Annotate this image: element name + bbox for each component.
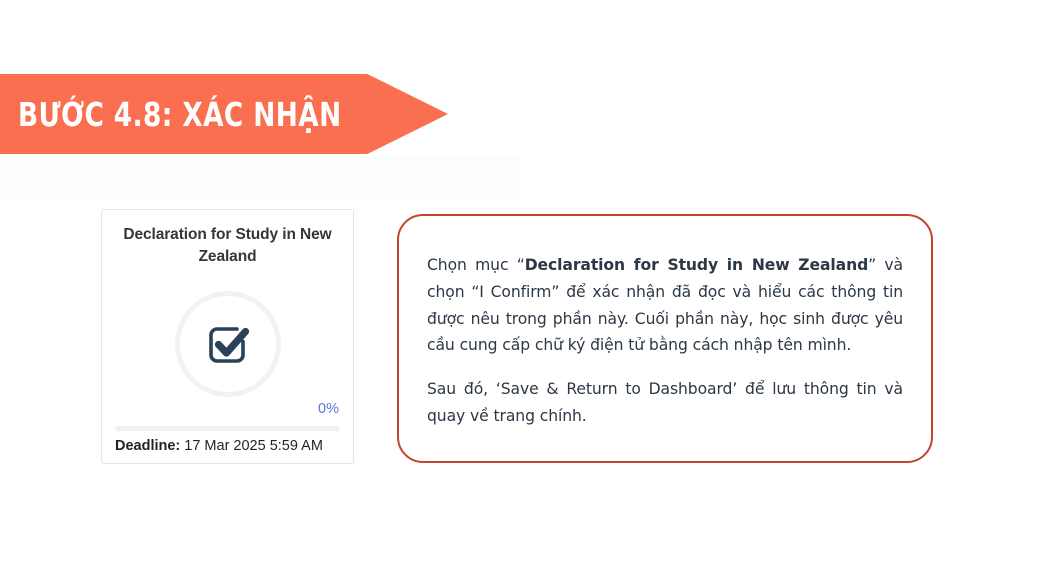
task-card-title: Declaration for Study in New Zealand [115, 224, 340, 268]
deadline-value: 17 Mar 2025 5:59 AM [184, 438, 323, 454]
progress-bar [115, 426, 340, 431]
background-watermark [0, 156, 520, 202]
progress-percent-label: 0% [318, 402, 339, 417]
instruction-paragraph-2: Sau đó, ‘Save & Return to Dashboard’ để … [427, 376, 903, 430]
instruction-p1-part1: Chọn mục “ [427, 256, 525, 274]
banner-title: BƯỚC 4.8: XÁC NHẬN [18, 74, 342, 154]
task-card[interactable]: Declaration for Study in New Zealand 0% … [101, 209, 354, 464]
deadline-row: Deadline:17 Mar 2025 5:59 AM [115, 438, 343, 454]
task-status-ring [175, 291, 281, 397]
deadline-label: Deadline: [115, 438, 180, 454]
instruction-panel: Chọn mục “Declaration for Study in New Z… [397, 214, 933, 463]
instruction-p1-bold: Declaration for Study in New Zealand [525, 256, 868, 274]
instruction-paragraph-1: Chọn mục “Declaration for Study in New Z… [427, 252, 903, 359]
step-banner: BƯỚC 4.8: XÁC NHẬN [0, 74, 448, 154]
checked-checkbox-icon [199, 315, 257, 373]
